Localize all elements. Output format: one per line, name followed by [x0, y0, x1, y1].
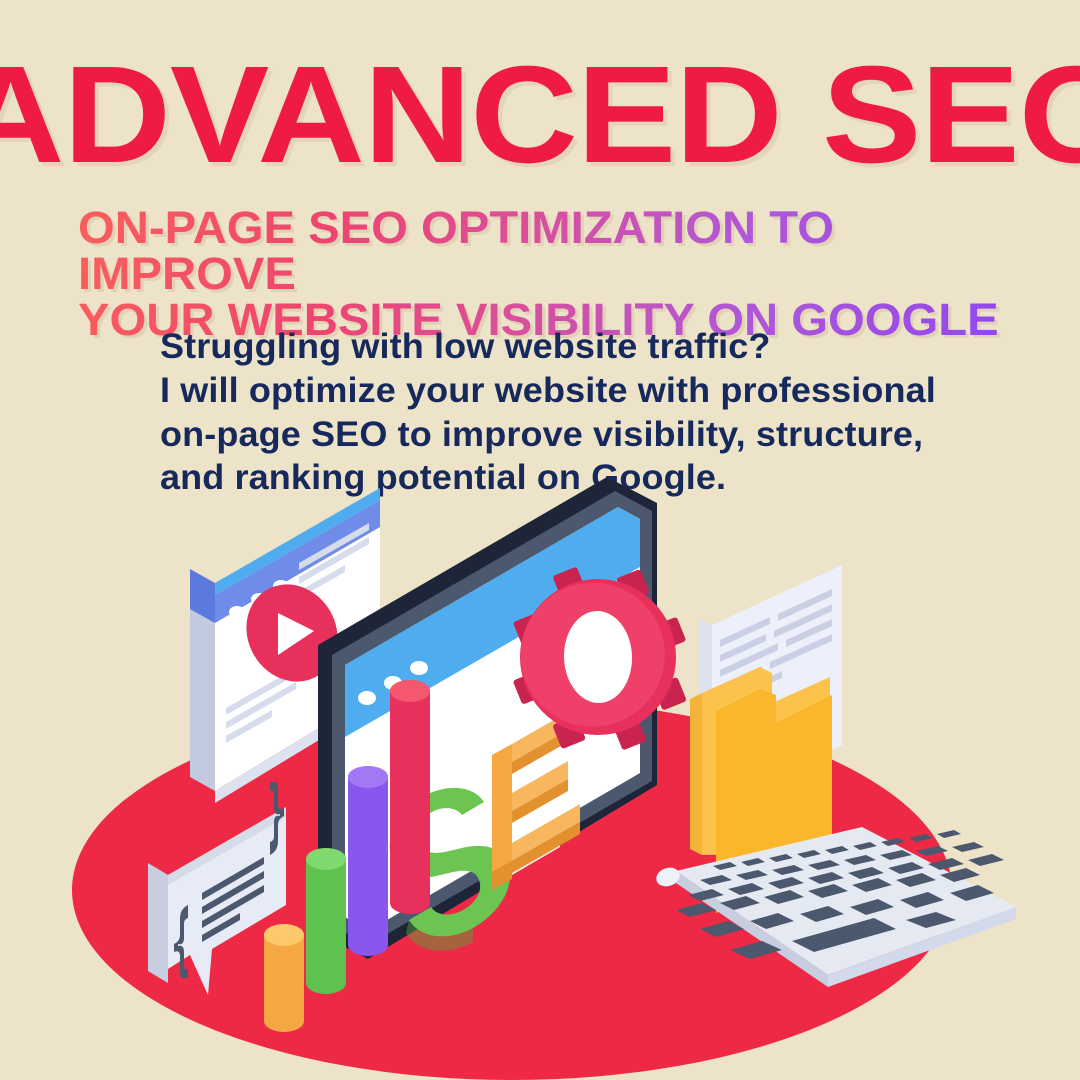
screen-dot-3-icon — [410, 661, 428, 675]
body-line-1: Struggling with low website traffic? — [160, 325, 1005, 369]
folder-back-edge — [690, 693, 702, 855]
screen-dot-1-icon — [358, 691, 376, 705]
chart-bar-2 — [306, 848, 346, 994]
body-line-2: I will optimize your website with profes… — [160, 369, 1005, 413]
body-line-3: on-page SEO to improve visibility, struc… — [160, 413, 1005, 457]
seo-isometric-illustration — [0, 455, 1080, 1080]
chart-bar-1 — [264, 924, 304, 1032]
browser-dot-1-icon — [229, 606, 245, 618]
subtitle: ON-PAGE SEO OPTIMIZATION TO IMPROVE YOUR… — [78, 205, 1048, 343]
poster-canvas: ADVANCED SEO ON-PAGE SEO OPTIMIZATION TO… — [0, 0, 1080, 1080]
code-bubble-side — [148, 863, 168, 983]
subtitle-line-1: ON-PAGE SEO OPTIMIZATION TO IMPROVE — [78, 202, 834, 299]
chart-bar-3 — [348, 766, 388, 956]
page-title: ADVANCED SEO — [0, 46, 1080, 184]
chart-bar-4 — [390, 680, 430, 914]
